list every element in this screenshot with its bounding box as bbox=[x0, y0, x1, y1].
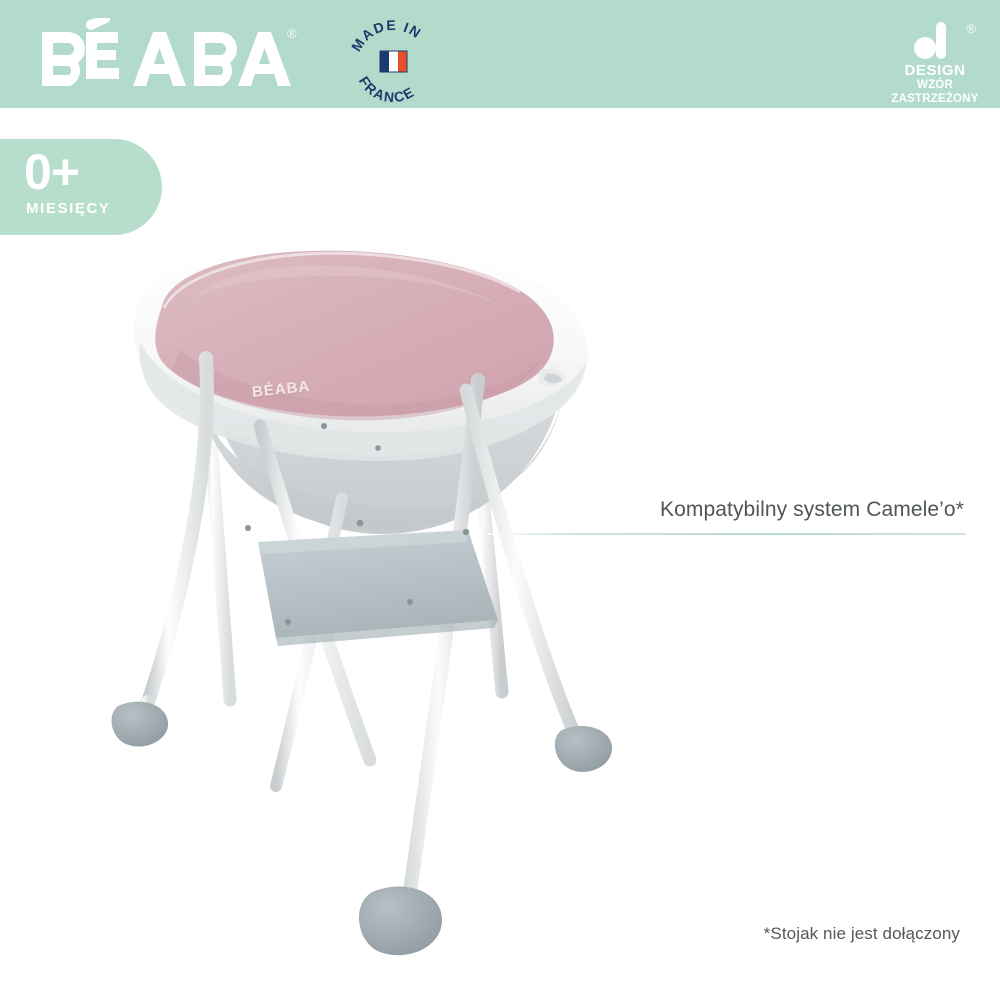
beaba-brand-logo bbox=[38, 18, 308, 90]
feature-callout-rule bbox=[488, 533, 966, 535]
product-image-bath-tub-on-stand bbox=[110, 230, 650, 960]
foot-front bbox=[359, 887, 442, 956]
brand-registered-icon: ® bbox=[287, 27, 297, 40]
design-badge-line2: WZÓR ZASTRZEŻONY bbox=[880, 79, 990, 107]
product-marketing-image: ® MADE IN FRANCE bbox=[0, 0, 1000, 1000]
age-badge-unit: MIESIĘCY bbox=[26, 201, 110, 216]
design-monogram-icon: ® bbox=[880, 20, 990, 62]
feature-callout: Kompatybilny system Camele’o* bbox=[488, 498, 968, 535]
header-banner: ® MADE IN FRANCE bbox=[0, 0, 1000, 108]
design-badge-line1: DESIGN bbox=[880, 62, 990, 79]
svg-text:FRANCE: FRANCE bbox=[356, 73, 418, 105]
footnote-text: *Stojak nie jest dołączony bbox=[600, 924, 960, 944]
svg-text:MADE IN: MADE IN bbox=[348, 18, 425, 54]
design-registered-badge: ® DESIGN WZÓR ZASTRZEŻONY bbox=[880, 20, 990, 102]
foot-right bbox=[555, 726, 612, 772]
foot-left bbox=[112, 702, 169, 747]
french-flag-icon bbox=[380, 51, 407, 72]
design-registered-icon: ® bbox=[966, 22, 976, 35]
age-badge-value: 0+ bbox=[24, 147, 79, 197]
feature-callout-text: Kompatybilny system Camele’o* bbox=[488, 498, 968, 522]
storage-shelf bbox=[258, 530, 498, 646]
made-in-france-badge: MADE IN FRANCE bbox=[344, 18, 442, 106]
age-badge: 0+ MIESIĘCY bbox=[0, 139, 162, 235]
